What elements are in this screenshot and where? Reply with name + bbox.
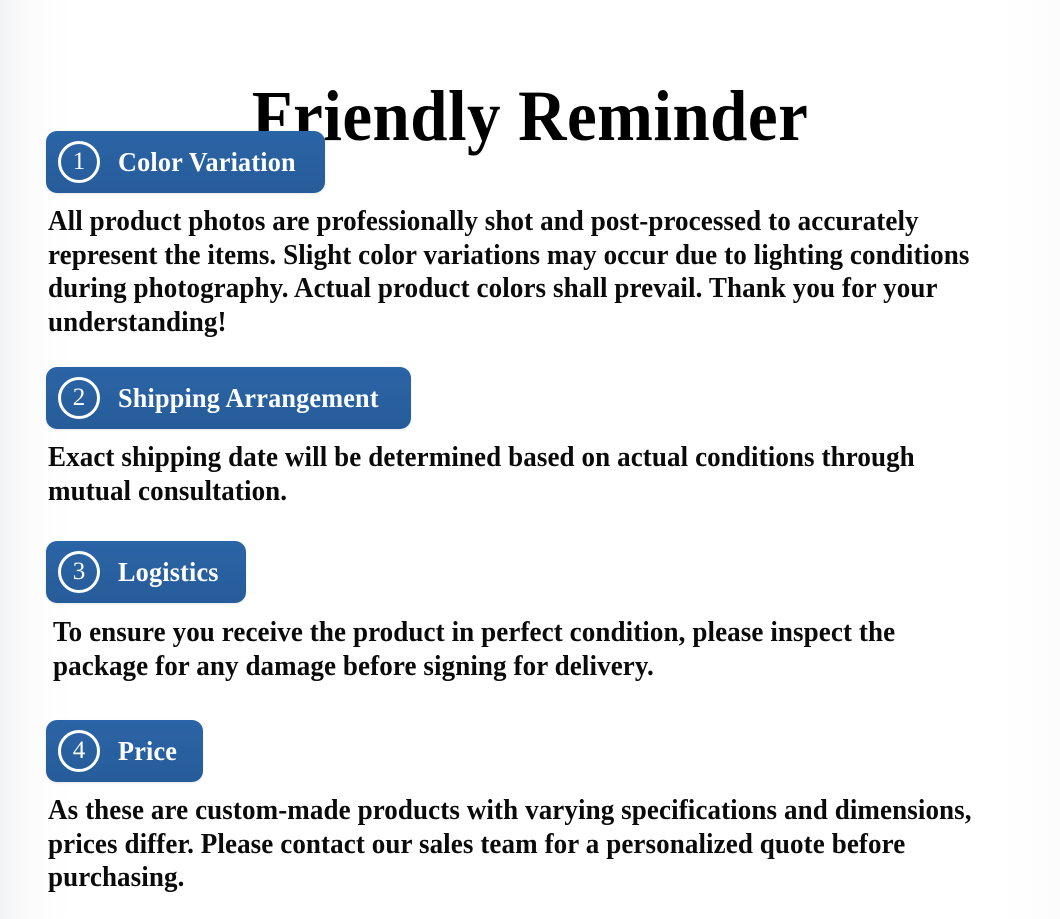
- badge-number-icon-3: 3: [58, 551, 100, 593]
- reminder-section-2: 2 Shipping Arrangement Exact shipping da…: [0, 367, 1060, 508]
- section-body-3: To ensure you receive the product in per…: [53, 616, 994, 683]
- reminder-section-3: 3 Logistics To ensure you receive the pr…: [0, 541, 1060, 683]
- badge-label-2: Shipping Arrangement: [118, 383, 379, 413]
- badge-number-icon-1: 1: [58, 141, 100, 183]
- badge-label-3: Logistics: [118, 557, 219, 587]
- badge-number-icon-2: 2: [58, 377, 100, 419]
- section-body-1: All product photos are professionally sh…: [48, 205, 1013, 339]
- section-badge-4[interactable]: 4 Price: [46, 720, 203, 782]
- friendly-reminder-page: Friendly Reminder 1 Color Variation All …: [0, 0, 1060, 919]
- badge-number-icon-4: 4: [58, 730, 100, 772]
- reminder-section-4: 4 Price As these are custom-made product…: [0, 720, 1060, 895]
- section-badge-1[interactable]: 1 Color Variation: [46, 131, 325, 193]
- section-body-2: Exact shipping date will be determined b…: [48, 441, 974, 508]
- badge-label-4: Price: [118, 736, 177, 766]
- section-badge-2[interactable]: 2 Shipping Arrangement: [46, 367, 411, 429]
- badge-label-1: Color Variation: [118, 147, 296, 177]
- section-body-4: As these are custom-made products with v…: [48, 794, 1018, 895]
- reminder-section-1: 1 Color Variation All product photos are…: [0, 131, 1060, 339]
- section-badge-3[interactable]: 3 Logistics: [46, 541, 246, 603]
